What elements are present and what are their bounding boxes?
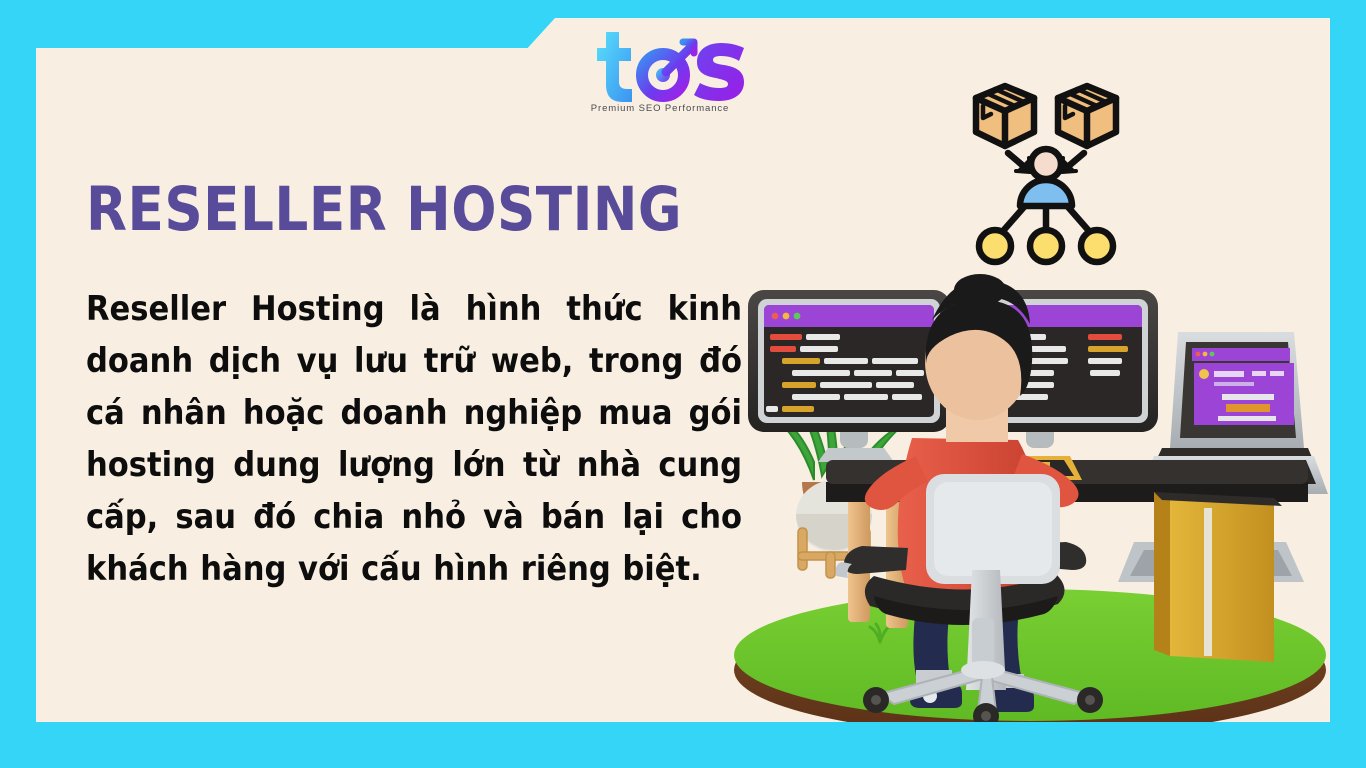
brand-logo[interactable]: Premium SEO Performance <box>570 28 750 128</box>
package-right-icon <box>1058 86 1116 146</box>
poster-canvas: Premium SEO Performance RESELLER HOSTING… <box>0 0 1366 768</box>
reseller-distribution-icon <box>946 76 1146 276</box>
monitor-left <box>748 290 950 462</box>
inbound-arrow-left-icon <box>1008 153 1030 172</box>
storage-cabinet <box>1154 492 1282 662</box>
client-node-3-icon <box>1081 230 1113 262</box>
logo-tagline: Premium SEO Performance <box>570 103 750 114</box>
description-paragraph: Reseller Hosting là hình thức kinh doanh… <box>86 283 742 595</box>
client-node-1-icon <box>979 230 1011 262</box>
client-node-2-icon <box>1030 230 1062 262</box>
workstation-illustration <box>730 270 1330 722</box>
package-left-icon <box>976 86 1034 146</box>
inbound-arrow-right-icon <box>1062 153 1084 172</box>
page-title: RESELLER HOSTING <box>86 179 746 241</box>
logo-wordmark-icon <box>570 28 750 102</box>
